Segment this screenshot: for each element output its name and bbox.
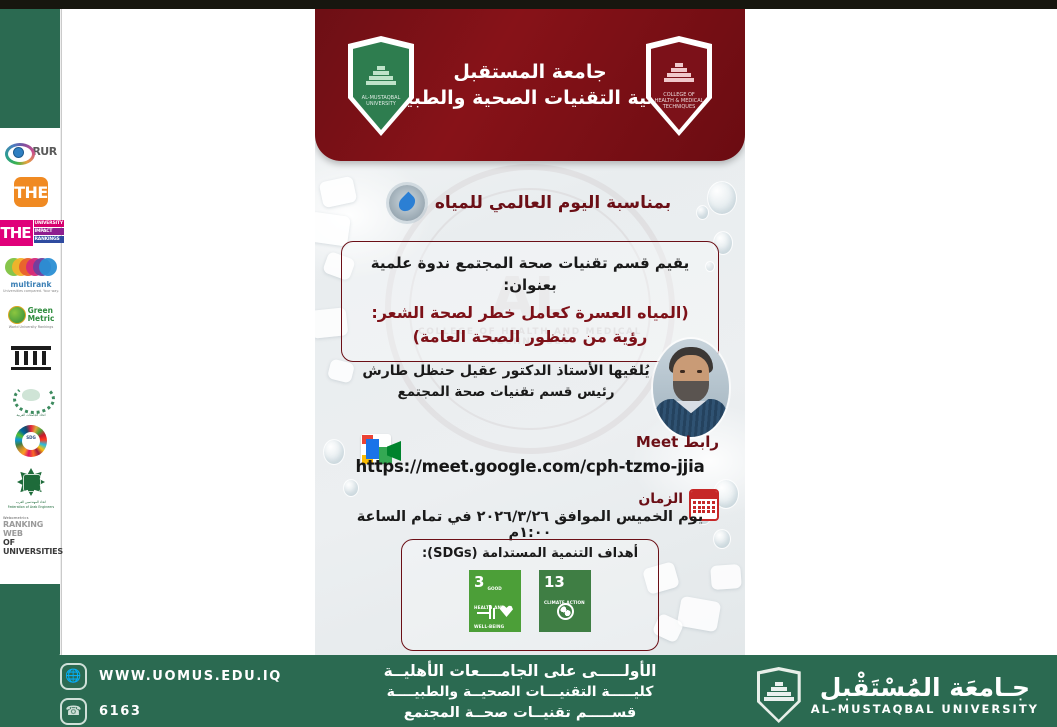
multirank-label: multirank [11,280,52,289]
the-label: THE [14,177,48,207]
ice-cube-decoration [677,596,722,632]
footer-tagline-block: الأولـــــى على الجامــــعات الأهليــة ك… [330,661,710,724]
phone-icon: ☎ [60,698,87,725]
top-dark-strip [0,0,1057,9]
meet-url[interactable]: https://meet.google.com/cph-tzmo-jjia [341,457,719,476]
rur-label: RUR [32,145,56,158]
rur-eye-icon [5,141,31,161]
sdg-3-good-health-icon: 3 GOOD HEALTH AND WELL-BEING [469,570,521,632]
greenmetric-line-2: Metric [28,315,55,323]
arab-engineers-star-icon [14,465,48,499]
meet-link-label: رابط Meet [636,433,719,451]
greenmetric-leaf-icon [8,306,26,324]
sdg-13-number: 13 [544,575,565,589]
seminar-datetime: يوم الخميس الموافق ٢٠٢٦/٣/٢٦ في تمام الس… [341,509,719,541]
ranking-web-label: RANKING WEB [3,520,59,538]
the-impact-bars: UNIVERSITY IMPACT RANKINGS [34,220,64,246]
footer-phone: 6163 [99,704,142,719]
sdg-wheel-label: SDG [22,435,40,440]
ranking-web-of-universities-logo[interactable]: Webometrics RANKING WEB OF UNIVERSITIES [3,516,59,556]
footer-brand-block: جـامعَة المُسْتَقْبل AL-MUSTAQBAL UNIVER… [757,667,1039,723]
page-white-right-gap [745,9,1057,655]
page-white-left-gap [62,9,315,655]
accreditation-sidebar: RUR THE THE UNIVERSITY IMPACT RANKINGS [0,9,62,655]
footer-tagline-line-1: الأولـــــى على الجامــــعات الأهليــة [330,661,710,682]
footer-phone-row[interactable]: ☎ 6163 [60,698,282,725]
water-droplet-decoration [343,479,359,497]
sdg-title: أهداف التنمية المستدامة (SDGs): [402,546,658,561]
sdg-13-climate-action-icon: 13 CLIMATE ACTION [539,570,591,632]
water-droplet-gear-icon [389,185,425,221]
arab-universities-association-logo[interactable]: اتحاد الجامعات العربية [3,382,59,417]
footer-university-seal-icon [757,667,801,723]
rur-ranking-logo[interactable]: RUR [3,134,59,168]
the-impact-line-1: UNIVERSITY [34,220,64,227]
page-footer: 🌐 WWW.UOMUS.EDU.IQ ☎ 6163 الأولـــــى عل… [0,655,1057,727]
of-universities-label: OF UNIVERSITIES [3,538,59,556]
greenmetric-subtitle: World University Rankings [9,325,53,329]
ui-greenmetric-logo[interactable]: Green Metric World University Rankings [3,300,59,334]
poster-header-banner: جامعة المستقبل كلية التقنيات الصحية والط… [315,9,745,161]
seminar-title: (المياه العسرة كعامل خطر لصحة الشعر: رؤي… [356,301,704,349]
college-seal-icon: COLLEGE OF HEALTH & MEDICAL TECHNIQUES [646,36,712,136]
sdg-box: أهداف التنمية المستدامة (SDGs): 3 GOOD H… [401,539,659,651]
globe-icon: 🌐 [60,663,87,690]
the-impact-rankings-logo[interactable]: THE UNIVERSITY IMPACT RANKINGS [3,216,59,250]
seminar-poster: AL COLLEGE OF HEALTH AND MEDICAL TECHNIQ… [315,9,745,655]
footer-tagline-line-3: قســـــم تقنيــات صحــة المجتمع [330,703,710,724]
screenshot-root: RUR THE THE UNIVERSITY IMPACT RANKINGS [0,0,1057,727]
footer-brand-ar: جـامعَة المُسْتَقْبل [811,674,1039,702]
the-ranking-logo[interactable]: THE [3,175,59,209]
u-multirank-logo[interactable]: multirank Universities compared. Your wa… [3,257,59,293]
accreditation-badge-list: RUR THE THE UNIVERSITY IMPACT RANKINGS [0,128,62,655]
sdg-wheel-logo[interactable]: SDG [3,424,59,458]
footer-contact-block: 🌐 WWW.UOMUS.EDU.IQ ☎ 6163 [60,663,282,725]
federation-of-arab-engineers-logo[interactable]: اتحاد المهندسين العرب Federation of Arab… [3,465,59,509]
the-impact-label: THE [0,220,33,246]
sidebar-green-header-block [0,9,62,128]
footer-website: WWW.UOMUS.EDU.IQ [99,669,282,684]
college-name-ar: كلية التقنيات الصحية والطبية [394,85,665,111]
speaker-name: يُلقيها الأستاذ الدكتور عقيل حنظل طارش [341,361,671,382]
speaker-role: رئيس قسم تقنيات صحة المجتمع [341,382,671,403]
arab-engineers-label-en: Federation of Arab Engineers [8,505,54,509]
sdg-icon-list: 3 GOOD HEALTH AND WELL-BEING 13 CLIMATE … [402,570,658,632]
sdg-wheel-icon: SDG [15,425,47,457]
footer-brand-en: AL-MUSTAQBAL UNIVERSITY [811,702,1039,717]
seminar-intro-line: يقيم قسم تقنيات صحة المجتمع ندوة علمية ب… [356,252,704,296]
university-seal-icon: AL-MUSTAQBAL UNIVERSITY [348,36,414,136]
sdg-3-number: 3 [474,575,484,589]
university-name-ar: جامعة المستقبل [394,59,665,85]
the-impact-line-3: RANKINGS [34,236,64,243]
footer-website-row[interactable]: 🌐 WWW.UOMUS.EDU.IQ [60,663,282,690]
multirank-subtitle: Universities compared. Your way. [3,289,59,293]
ice-cube-decoration [710,564,742,590]
time-label: الزمان [638,491,683,507]
multirank-rings-icon [5,257,57,279]
wreath-icon [11,382,51,412]
occasion-text: بمناسبة اليوم العالمي للمياه [435,193,671,213]
the-impact-line-2: IMPACT [34,228,64,235]
arab-engineers-label-ar: اتحاد المهندسين العرب [16,500,46,504]
footer-tagline-line-2: كليـــــة التقنيـــات الصحيــة والطبيـــ… [330,682,710,703]
world-water-day-row: بمناسبة اليوم العالمي للمياه [315,185,745,221]
speaker-portrait-photo [653,339,729,437]
classical-building-icon[interactable] [3,341,59,375]
seminar-title-box: يقيم قسم تقنيات صحة المجتمع ندوة علمية ب… [341,241,719,362]
speaker-info: يُلقيها الأستاذ الدكتور عقيل حنظل طارش ر… [341,361,671,403]
